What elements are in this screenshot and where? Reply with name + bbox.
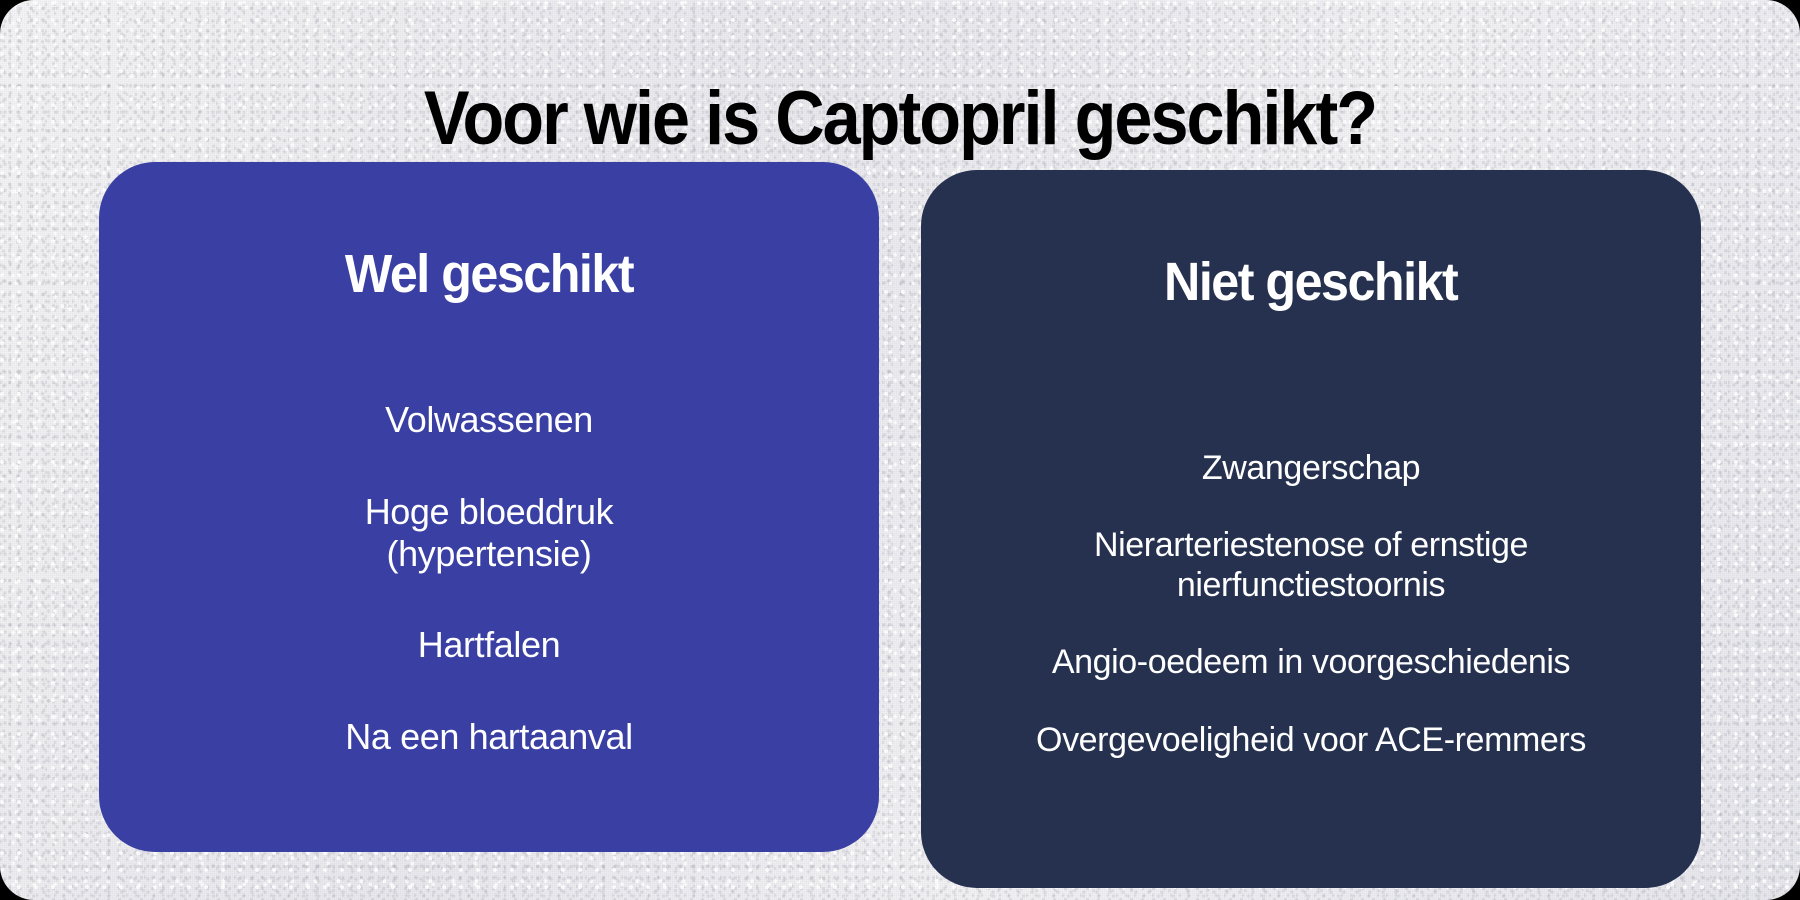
list-item: Hartfalen [418, 624, 560, 666]
list-item: Na een hartaanval [345, 716, 632, 758]
card-suitable: Wel geschikt Volwassenen Hoge bloeddruk … [99, 162, 879, 852]
list-item: Nierarteriestenose of ernstige nierfunct… [1021, 526, 1601, 605]
comparison-cards: Wel geschikt Volwassenen Hoge bloeddruk … [0, 162, 1800, 862]
infographic-canvas: Voor wie is Captopril geschikt? Wel gesc… [0, 0, 1800, 900]
card-not-suitable-list: Zwangerschap Nierarteriestenose of ernst… [967, 357, 1655, 858]
list-item: Volwassenen [385, 399, 593, 441]
list-item: Overgevoeligheid voor ACE-remmers [1036, 721, 1586, 760]
list-item: Angio-oedeem in voorgeschiedenis [1052, 643, 1570, 682]
card-suitable-list: Volwassenen Hoge bloeddruk (hypertensie)… [145, 349, 833, 822]
card-suitable-title: Wel geschikt [345, 245, 633, 304]
page-title: Voor wie is Captopril geschikt? [90, 79, 1710, 159]
list-item: Zwangerschap [1202, 449, 1420, 488]
list-item: Hoge bloeddruk (hypertensie) [274, 491, 704, 575]
card-not-suitable: Niet geschikt Zwangerschap Nierarteriest… [921, 170, 1701, 888]
card-not-suitable-title: Niet geschikt [1164, 253, 1457, 312]
